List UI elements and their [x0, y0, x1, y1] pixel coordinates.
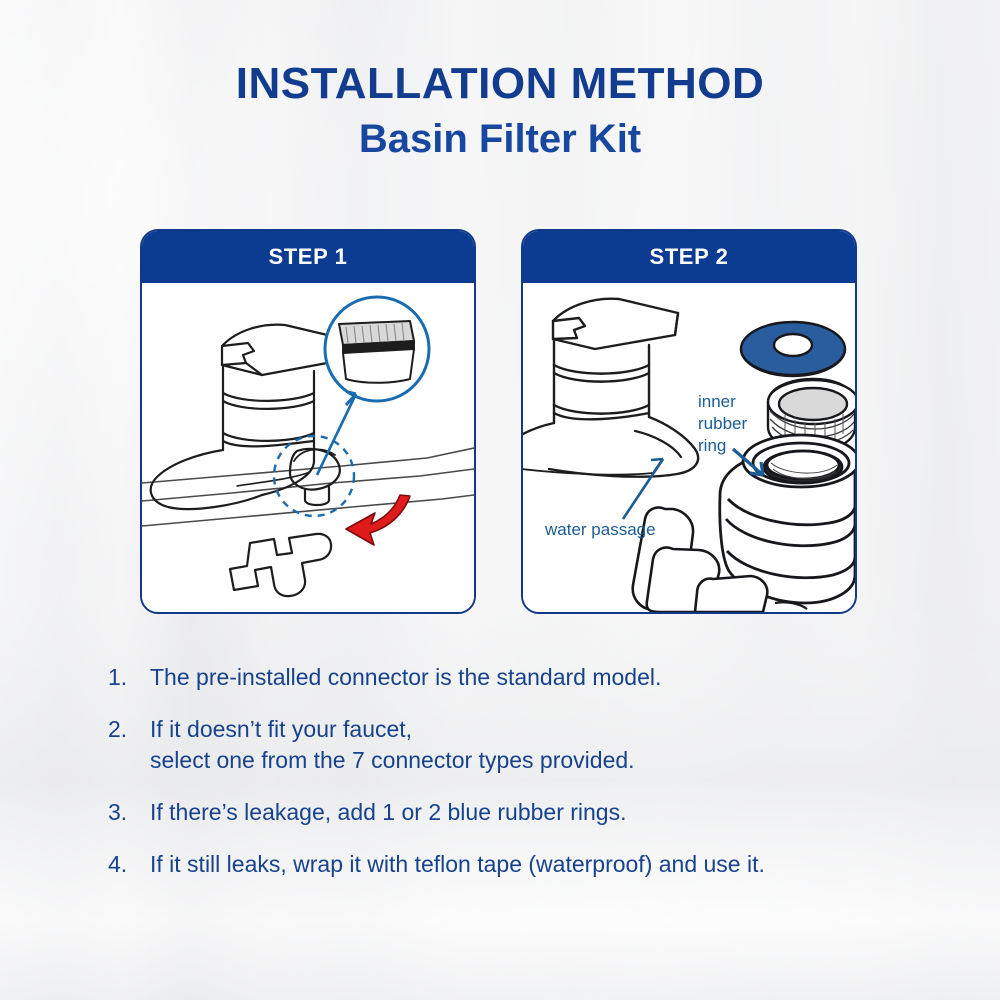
svg-text:rubber: rubber: [698, 414, 747, 433]
blue-rubber-ring: [741, 322, 845, 376]
page-title-block: INSTALLATION METHOD Basin Filter Kit: [0, 58, 1000, 164]
list-item: 3. If there’s leakage, add 1 or 2 blue r…: [108, 797, 938, 827]
step-1-panel: STEP 1: [140, 229, 476, 614]
svg-text:ring: ring: [698, 436, 726, 455]
list-item: 1. The pre-installed connector is the st…: [108, 662, 938, 692]
callout-arrow: [317, 392, 356, 475]
instruction-text: If it doesn’t fit your faucet, select on…: [150, 714, 635, 775]
instruction-text: If it still leaks, wrap it with teflon t…: [150, 849, 765, 879]
page-title: INSTALLATION METHOD: [0, 58, 1000, 110]
instruction-number: 2.: [108, 714, 150, 744]
instruction-text: If there’s leakage, add 1 or 2 blue rubb…: [150, 797, 627, 827]
remove-direction-arrow: [346, 495, 410, 545]
step-1-header: STEP 1: [142, 231, 474, 283]
aerator-wrench-tool: [230, 534, 331, 596]
instruction-number: 3.: [108, 797, 150, 827]
water-passage-label: water passage: [544, 520, 656, 539]
page-subtitle: Basin Filter Kit: [0, 114, 1000, 164]
step-1-illustration: [142, 283, 474, 612]
step-2-header: STEP 2: [523, 231, 855, 283]
step-2-illustration: inner rubber ring water passage: [523, 283, 855, 612]
list-item: 2. If it doesn’t fit your faucet, select…: [108, 714, 938, 775]
instruction-number: 4.: [108, 849, 150, 879]
list-item: 4. If it still leaks, wrap it with teflo…: [108, 849, 938, 879]
inner-rubber-ring-label: inner: [698, 392, 736, 411]
instruction-list: 1. The pre-installed connector is the st…: [108, 662, 938, 902]
instruction-number: 1.: [108, 662, 150, 692]
aerator-magnifier-callout: [325, 297, 429, 401]
instruction-text: The pre-installed connector is the stand…: [150, 662, 661, 692]
step-2-panel: STEP 2: [521, 229, 857, 614]
installation-guide-page: INSTALLATION METHOD Basin Filter Kit STE…: [0, 0, 1000, 1000]
